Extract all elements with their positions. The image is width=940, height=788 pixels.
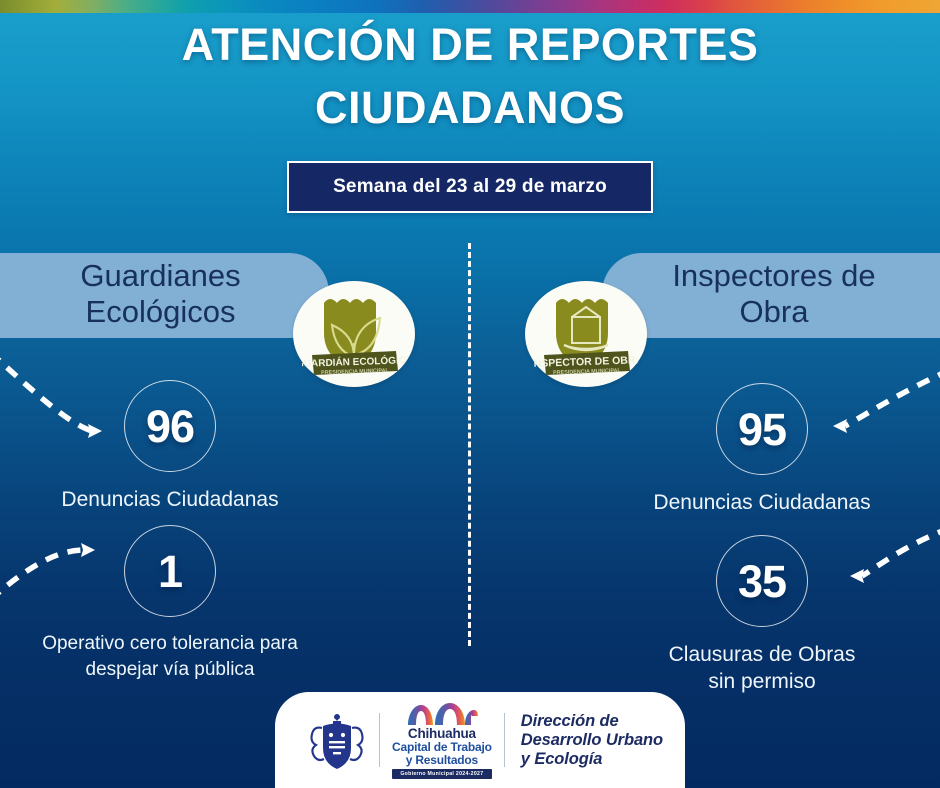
stat-value: 35 bbox=[738, 559, 786, 604]
stat-circle: 35 bbox=[716, 535, 808, 627]
arrow-path-guardianes-2 bbox=[0, 550, 85, 600]
arrow-path-guardianes-1 bbox=[0, 352, 92, 431]
stat-guardianes-denuncias: 96 Denuncias Ciudadanas bbox=[80, 380, 260, 513]
stat-guardianes-operativo: 1 Operativo cero tolerancia para despeja… bbox=[80, 525, 260, 683]
arrow-path-inspectores-2 bbox=[862, 528, 940, 576]
stat-value: 96 bbox=[146, 404, 194, 449]
arrow-path-inspectores-1 bbox=[845, 370, 940, 426]
chihuahua-mountain-logo bbox=[405, 702, 479, 726]
page-title-line-2: CIUDADANOS bbox=[60, 76, 880, 139]
brand-line-2: Capital de Trabajo bbox=[392, 741, 492, 754]
brand-line-1: Chihuahua bbox=[392, 727, 492, 741]
department-name: Dirección de Desarrollo Urbano y Ecologí… bbox=[505, 712, 667, 769]
stat-caption: Denuncias Ciudadanas bbox=[40, 486, 300, 513]
stat-caption: Denuncias Ciudadanas bbox=[612, 489, 912, 516]
department-line-1: Dirección de bbox=[521, 712, 667, 731]
stat-circle: 95 bbox=[716, 383, 808, 475]
stat-value: 1 bbox=[158, 549, 182, 594]
page-title-line-1: ATENCIÓN DE REPORTES bbox=[60, 13, 880, 76]
department-line-3: y Ecología bbox=[521, 750, 667, 769]
department-line-2: Desarrollo Urbano bbox=[521, 731, 667, 750]
stat-value: 95 bbox=[738, 407, 786, 452]
stat-inspectores-clausuras: 35 Clausuras de Obras sin permiso bbox=[672, 535, 852, 695]
stat-circle: 1 bbox=[124, 525, 216, 617]
stat-circle: 96 bbox=[124, 380, 216, 472]
stat-caption: Clausuras de Obras sin permiso bbox=[612, 641, 912, 695]
infographic-canvas: ATENCIÓN DE REPORTES CIUDADANOS Semana d… bbox=[0, 0, 940, 788]
brand-line-4: Gobierno Municipal 2024-2027 bbox=[392, 769, 492, 779]
page-title: ATENCIÓN DE REPORTES CIUDADANOS bbox=[0, 13, 940, 139]
date-range-badge: Semana del 23 al 29 de marzo bbox=[287, 161, 653, 213]
chihuahua-coat-of-arms bbox=[307, 708, 367, 772]
header: ATENCIÓN DE REPORTES CIUDADANOS Semana d… bbox=[0, 13, 940, 213]
chihuahua-brand: Chihuahua Capital de Trabajo y Resultado… bbox=[380, 702, 504, 779]
stat-inspectores-denuncias: 95 Denuncias Ciudadanas bbox=[672, 383, 852, 516]
stat-caption: Operativo cero tolerancia para despejar … bbox=[0, 631, 365, 683]
brand-line-3: y Resultados bbox=[392, 754, 492, 767]
rainbow-top-strip bbox=[0, 0, 940, 13]
footer-logo-bar: Chihuahua Capital de Trabajo y Resultado… bbox=[275, 692, 685, 788]
